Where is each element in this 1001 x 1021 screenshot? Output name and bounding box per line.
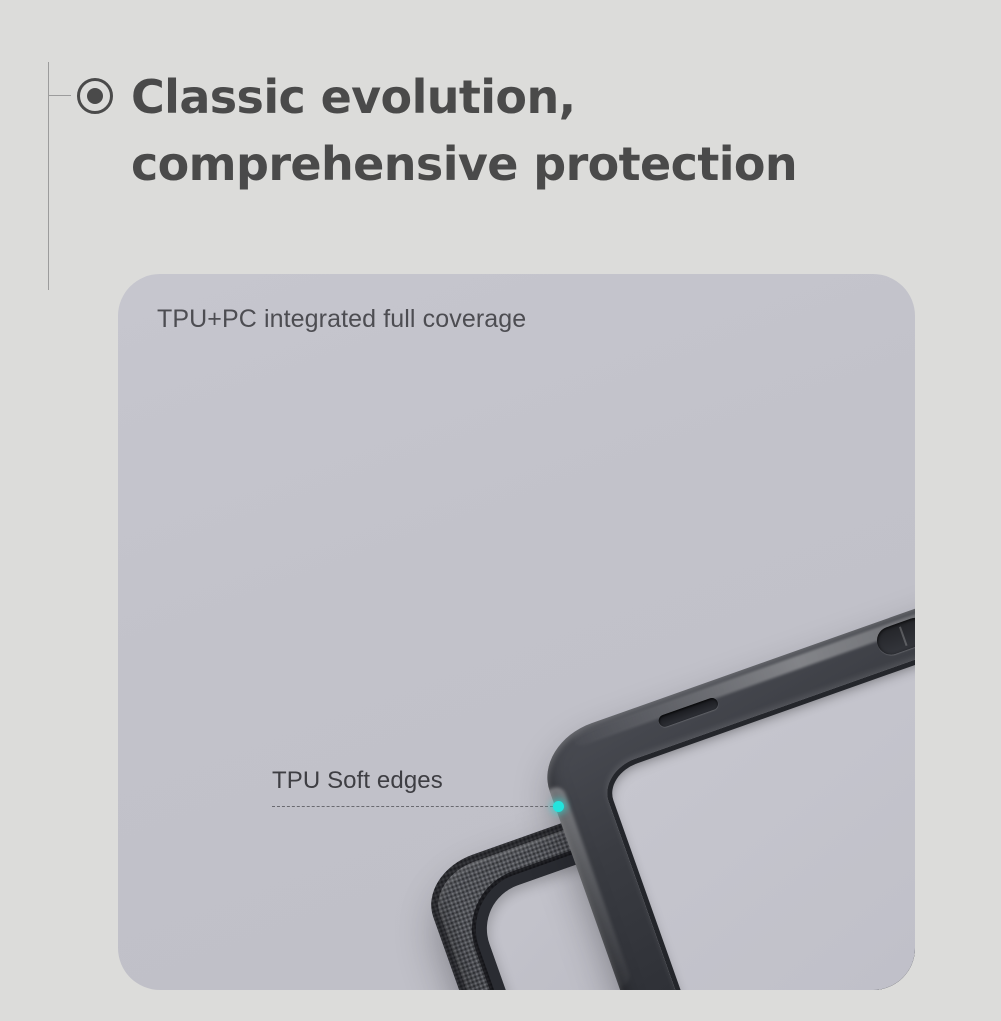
camera-plateau xyxy=(550,924,915,990)
mic-cutout xyxy=(873,614,915,658)
page-header: Classic evolution, comprehensive protect… xyxy=(0,0,1001,274)
product-feature-page: Classic evolution, comprehensive protect… xyxy=(0,0,1001,1021)
bumper-details xyxy=(533,474,915,990)
callout-leader-line xyxy=(272,806,558,807)
header-vertical-rule xyxy=(48,62,49,290)
product-illustration xyxy=(118,274,915,990)
page-title: Classic evolution, comprehensive protect… xyxy=(131,64,971,198)
phone-device xyxy=(550,924,915,990)
target-dot-icon xyxy=(77,78,113,114)
card-title: TPU+PC integrated full coverage xyxy=(157,305,526,334)
callout-tpu-soft-edges: TPU Soft edges xyxy=(272,761,572,817)
speaker-slot-cutout xyxy=(657,696,719,728)
tpu-bumper-frame xyxy=(533,474,915,990)
callout-marker-dot-icon xyxy=(553,801,564,812)
callout-label: TPU Soft edges xyxy=(272,767,443,795)
header-tick-rule xyxy=(48,95,71,96)
bumper-gloss-highlight xyxy=(533,474,915,990)
feature-card: TPU+PC integrated full coverage xyxy=(118,274,915,990)
